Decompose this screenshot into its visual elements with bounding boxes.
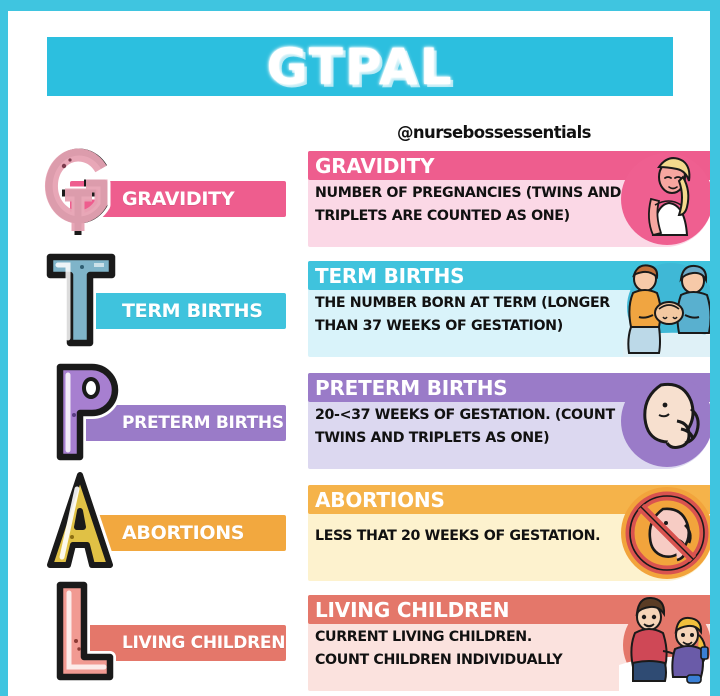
card-text-abortions: LESS THAT 20 WEEKS OF GESTATION. [315, 525, 583, 548]
card-text-gravidity: NUMBER OF PREGNANCIES (TWINS AND TRIPLET… [315, 182, 583, 228]
gtpal-infographic: GTPAL @nursebossessentials GRAVIDITY [0, 0, 720, 696]
card-text-preterm-births: 20-<37 WEEKS OF GESTATION. (COUNT TWINS … [315, 404, 583, 450]
author-handle: @nursebossessentials [397, 123, 637, 143]
card-text-line: THAN 37 WEEKS OF GESTATION) [315, 315, 583, 338]
big-letter-t [34, 243, 129, 355]
page-title: GTPAL [47, 37, 673, 96]
card-text-line: TRIPLETS ARE COUNTED AS ONE) [315, 205, 583, 228]
card-text-living-children: CURRENT LIVING CHILDREN. COUNT CHILDREN … [315, 626, 583, 672]
poster-canvas: GTPAL @nursebossessentials GRAVIDITY [8, 11, 710, 696]
big-letter-l [34, 575, 129, 687]
card-term-births: TERM BIRTHS THE NUMBER BORN AT TERM (LON… [308, 261, 710, 357]
letter-label-living: LIVING CHILDREN [122, 625, 280, 661]
title-bar: GTPAL [47, 37, 673, 96]
letter-row-abortions: ABORTIONS [8, 469, 308, 581]
card-text-line: LESS THAT 20 WEEKS OF GESTATION. [315, 525, 583, 548]
card-text-line: THE NUMBER BORN AT TERM (LONGER [315, 292, 583, 315]
letter-row-gravidity: GRAVIDITY [8, 135, 308, 247]
newborn-delivery-icon [615, 257, 710, 361]
card-text-line: COUNT CHILDREN INDIVIDUALLY [315, 649, 583, 672]
letter-row-term: TERM BIRTHS [8, 247, 308, 359]
card-abortions: ABORTIONS LESS THAT 20 WEEKS OF GESTATIO… [308, 485, 710, 581]
letter-row-preterm: PRETERM BIRTHS [8, 359, 308, 471]
card-text-line: TWINS AND TRIPLETS AS ONE) [315, 427, 583, 450]
pregnant-woman-icon [615, 147, 710, 251]
letter-label-gravidity: GRAVIDITY [122, 181, 280, 217]
card-living-children: LIVING CHILDREN CURRENT LIVING CHILDREN.… [308, 595, 710, 691]
card-text-line: NUMBER OF PREGNANCIES (TWINS AND [315, 182, 583, 205]
big-letter-p [34, 355, 129, 467]
card-preterm-births: PRETERM BIRTHS 20-<37 WEEKS OF GESTATION… [308, 373, 710, 469]
letter-row-living: LIVING CHILDREN [8, 579, 308, 691]
no-fetus-icon [615, 481, 710, 585]
card-gravidity: GRAVIDITY NUMBER OF PREGNANCIES (TWINS A… [308, 151, 710, 247]
letter-label-abortions: ABORTIONS [122, 515, 280, 551]
card-text-term-births: THE NUMBER BORN AT TERM (LONGER THAN 37 … [315, 292, 583, 338]
children-playing-icon [615, 591, 710, 695]
card-text-line: CURRENT LIVING CHILDREN. [315, 626, 583, 649]
card-text-line: 20-<37 WEEKS OF GESTATION. (COUNT [315, 404, 583, 427]
letter-label-preterm: PRETERM BIRTHS [122, 405, 280, 441]
big-letter-a [34, 465, 129, 577]
letter-label-term: TERM BIRTHS [122, 293, 280, 329]
fetus-icon [615, 369, 710, 473]
big-letter-g [34, 131, 129, 243]
